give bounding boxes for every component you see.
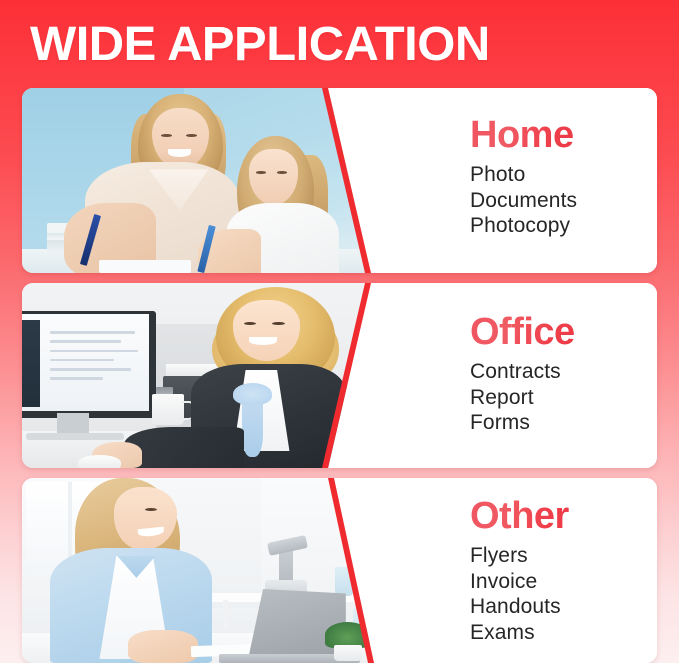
photo-artwork-office (22, 283, 374, 468)
application-card-home[interactable]: Home Photo Documents Photocopy (22, 88, 657, 273)
card-heading: Home (470, 114, 574, 156)
woman-hands (128, 630, 198, 663)
screen-text-line (50, 340, 120, 343)
lab-flask (335, 567, 353, 597)
photo-artwork-home (22, 88, 374, 273)
monitor-base (26, 433, 125, 440)
bench-leg (223, 600, 229, 630)
card-text-panel-home: Home Photo Documents Photocopy (402, 88, 657, 273)
wide-application-poster: WIDE APPLICATION (0, 0, 679, 663)
computer-mouse (78, 455, 120, 468)
woman-arm (124, 427, 244, 468)
list-item: Forms (470, 410, 561, 436)
card-item-list: Flyers Invoice Handouts Exams (470, 543, 561, 645)
list-item: Documents (470, 188, 577, 214)
blue-bow (233, 383, 272, 405)
page-title: WIDE APPLICATION (30, 17, 490, 73)
screen-sidebar (22, 320, 40, 407)
list-item: Exams (470, 620, 561, 646)
card-item-list: Photo Documents Photocopy (470, 162, 577, 239)
woman-eye (145, 508, 157, 511)
screen-text-line (50, 331, 134, 334)
application-card-office[interactable]: Office Contracts Report Forms (22, 283, 657, 468)
screen-text-line (50, 368, 131, 371)
bow-tail (242, 401, 263, 457)
woman-with-laptop-in-lab-photo (22, 478, 374, 663)
list-item: Contracts (470, 359, 561, 385)
plant-pot (334, 645, 362, 662)
mother-eye-right (186, 134, 197, 137)
woman-eye-right (272, 322, 285, 325)
card-text-panel-office: Office Contracts Report Forms (402, 283, 657, 468)
child-eye-right (277, 171, 287, 173)
card-heading: Other (470, 495, 569, 537)
screen-text-line (50, 350, 138, 353)
list-item: Photo (470, 162, 577, 188)
card-item-list: Contracts Report Forms (470, 359, 561, 436)
businesswoman-at-desk-photo (22, 283, 374, 468)
application-card-other[interactable]: Other Flyers Invoice Handouts Exams (22, 478, 657, 663)
list-item: Report (470, 385, 561, 411)
paper-sheet (99, 260, 191, 273)
card-text-panel-other: Other Flyers Invoice Handouts Exams (402, 478, 657, 663)
monitor-stand (57, 413, 89, 435)
screen-text-line (50, 377, 103, 380)
photo-artwork-other (22, 478, 374, 663)
mother-and-daughter-writing-photo (22, 88, 374, 273)
list-item: Handouts (470, 594, 561, 620)
coffee-mug (152, 394, 184, 425)
list-item: Invoice (470, 569, 561, 595)
list-item: Flyers (470, 543, 561, 569)
woman-smile (249, 337, 277, 345)
monitor-screen (22, 314, 149, 410)
list-item: Photocopy (470, 213, 577, 239)
child-eye-left (256, 171, 266, 173)
card-heading: Office (470, 311, 575, 353)
